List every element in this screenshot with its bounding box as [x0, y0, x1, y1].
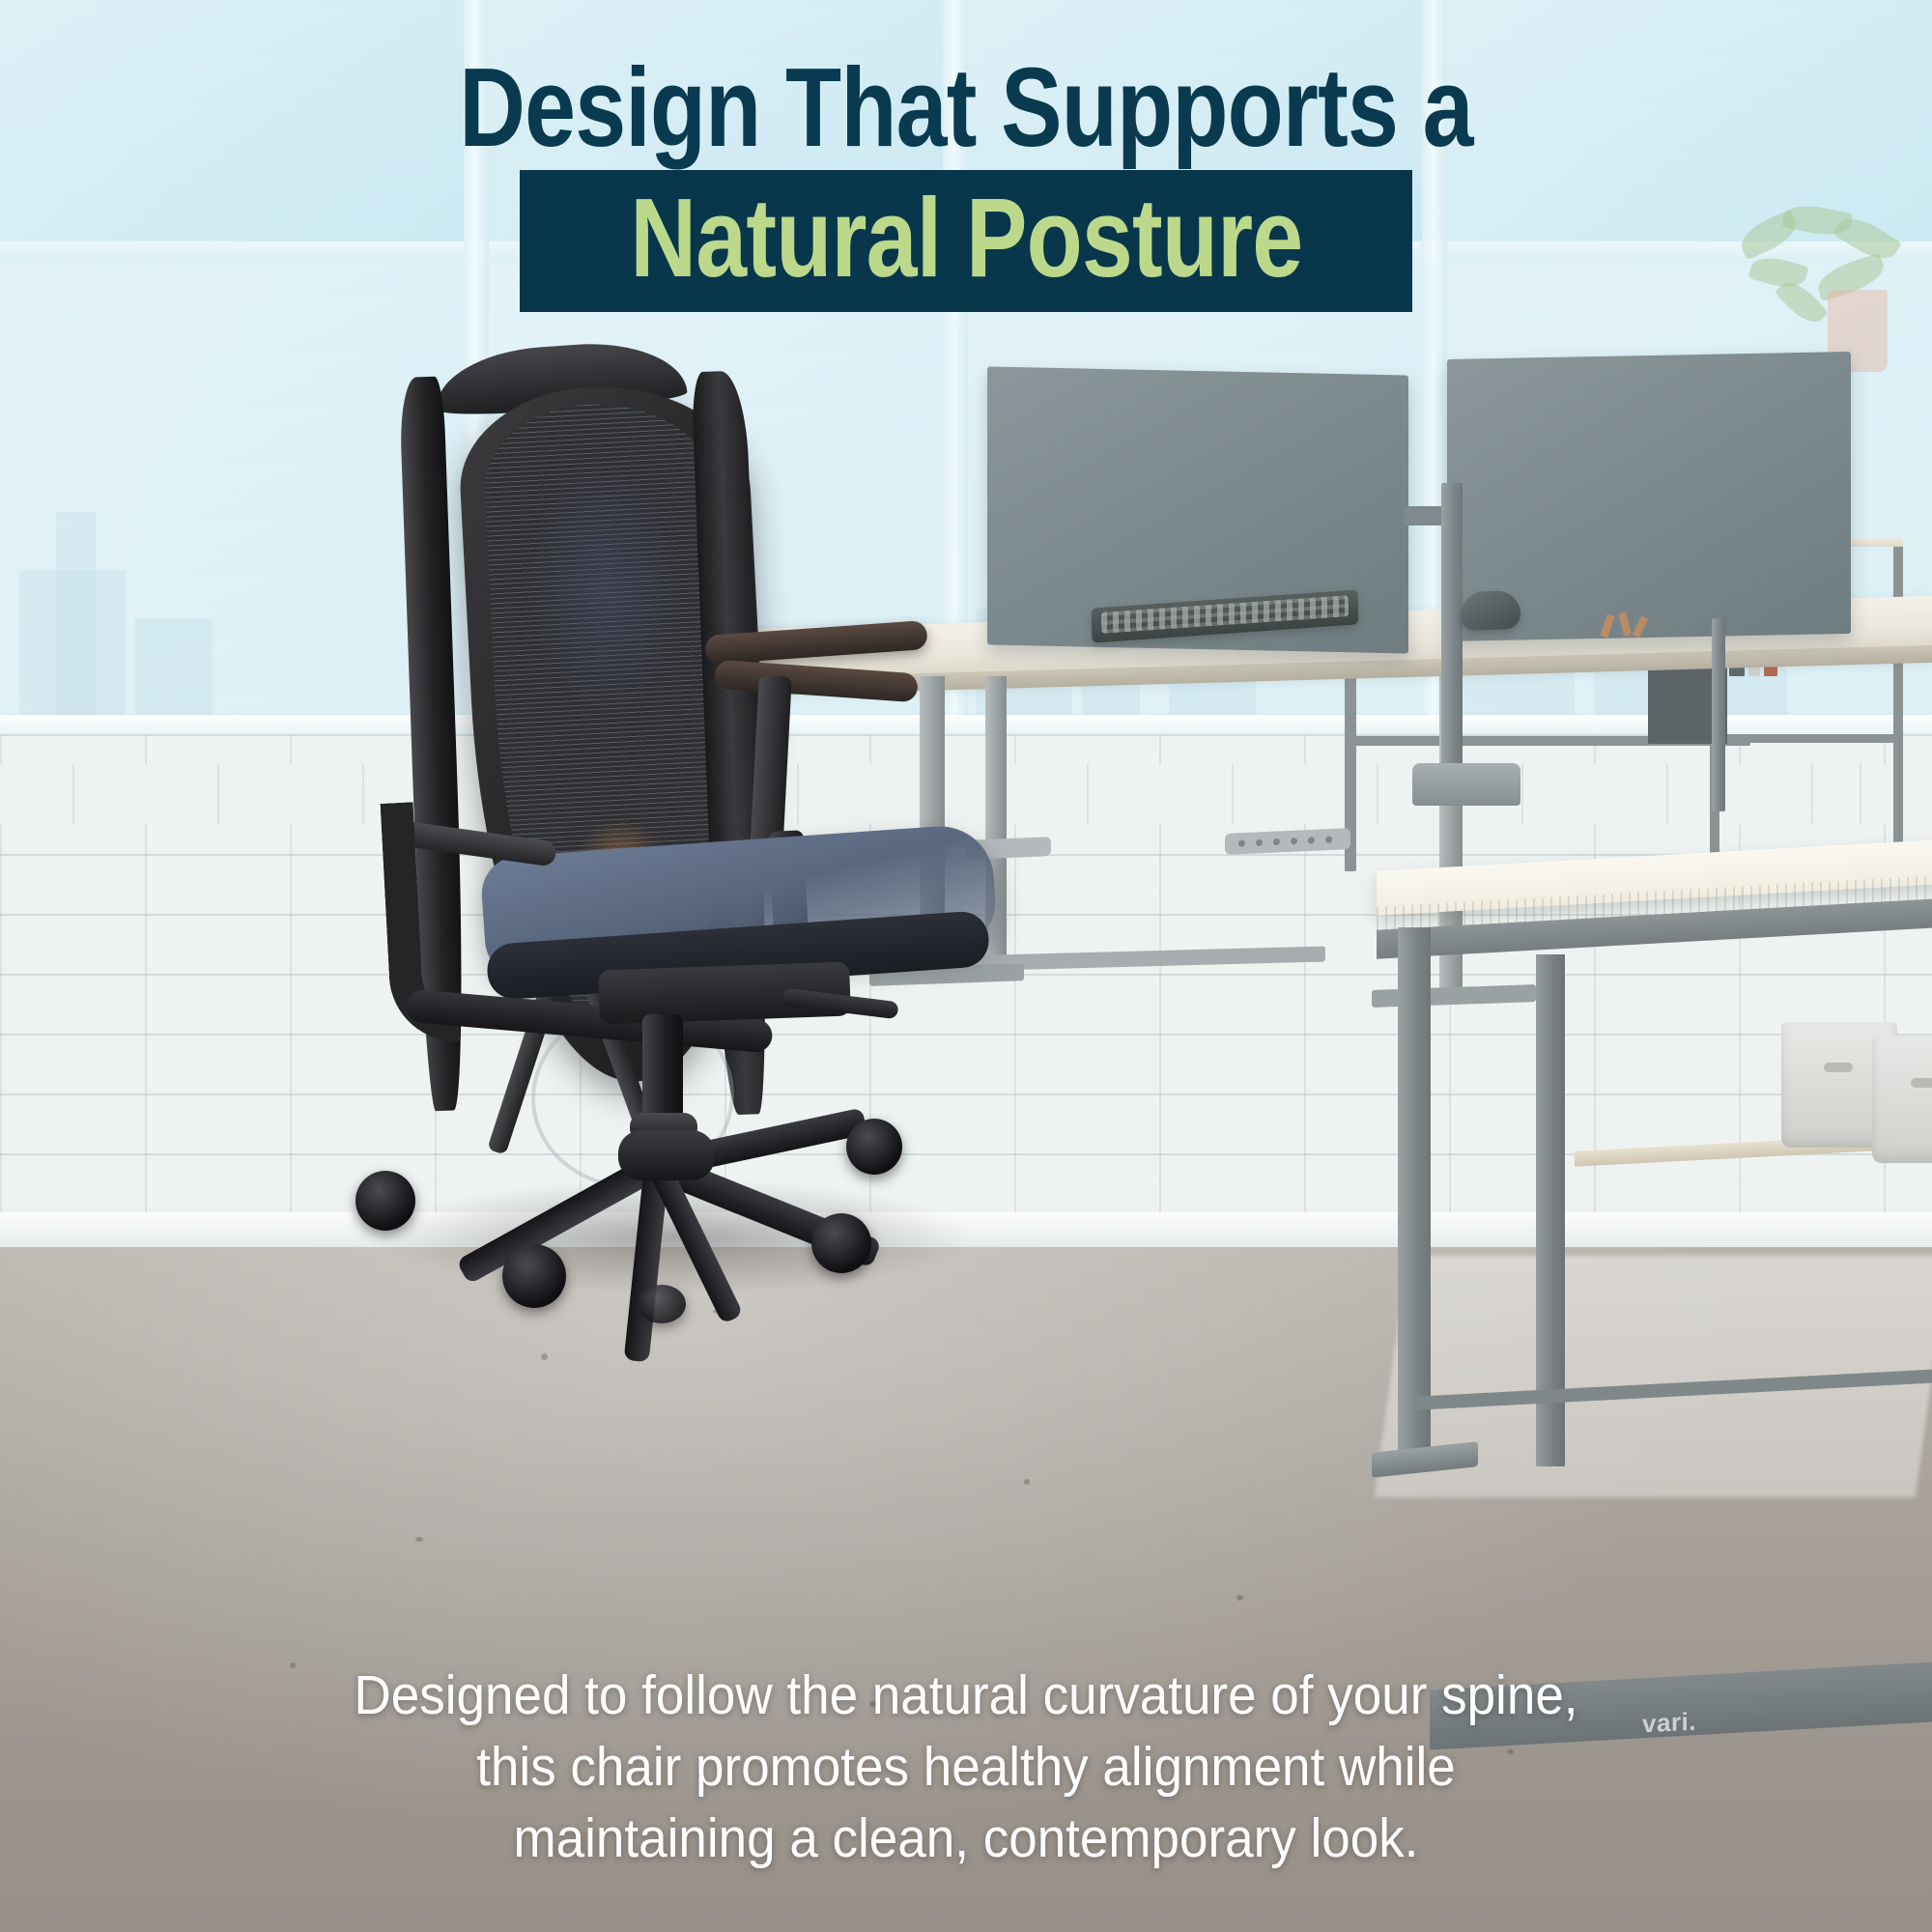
chair-base-hub: [618, 1130, 715, 1180]
caster: [502, 1244, 566, 1308]
caster: [811, 1213, 871, 1273]
mouse: [1461, 590, 1520, 631]
caster: [846, 1119, 902, 1175]
storage-bin-2: [1872, 1036, 1932, 1163]
headline-line-2: Natural Posture: [630, 180, 1302, 297]
headline-line-1: Design That Supports a: [174, 50, 1758, 164]
subcopy-line-3: maintaining a clean, contemporary look.: [68, 1803, 1864, 1874]
ergonomic-office-chair: [415, 386, 1111, 1594]
headline-block: Design That Supports a Natural Posture: [0, 50, 1932, 312]
subcopy-block: Designed to follow the natural curvature…: [68, 1660, 1864, 1874]
subcopy-line-1: Designed to follow the natural curvature…: [68, 1660, 1864, 1731]
subcopy-line-2: this chair promotes healthy alignment wh…: [68, 1731, 1864, 1803]
caster: [355, 1171, 415, 1231]
headline-highlight-band: Natural Posture: [520, 170, 1413, 312]
caster: [638, 1285, 686, 1323]
monitor-base: [1412, 763, 1520, 806]
front-desk-leg-outer: [1398, 927, 1431, 1468]
marketing-poster: vari.: [0, 0, 1932, 1932]
monitor-pole: [1441, 483, 1463, 782]
